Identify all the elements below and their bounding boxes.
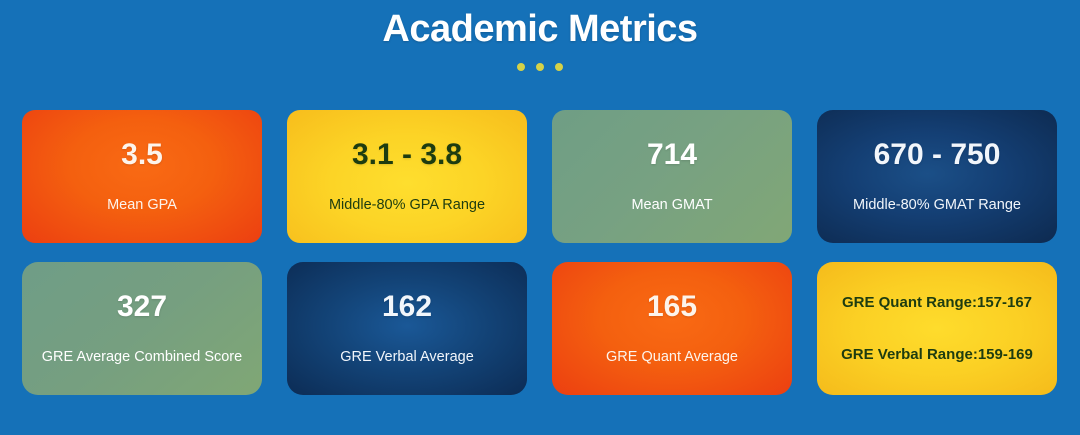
metric-label: Middle-80% GPA Range bbox=[329, 197, 485, 214]
metric-value: 327 bbox=[117, 290, 167, 323]
metric-card-mean-gmat[interactable]: 714 Mean GMAT bbox=[552, 110, 792, 243]
metric-value: 3.1 - 3.8 bbox=[352, 138, 462, 171]
metric-card-mean-gpa[interactable]: 3.5 Mean GPA bbox=[22, 110, 262, 243]
decorative-dots bbox=[0, 63, 1080, 71]
metric-label: GRE Quant Average bbox=[606, 349, 738, 366]
page-header: Academic Metrics bbox=[0, 0, 1080, 71]
dot-icon bbox=[555, 63, 563, 71]
academic-metrics-page: { "header": { "title": "Academic Metrics… bbox=[0, 0, 1080, 435]
metric-card-gre-verbal[interactable]: 162 GRE Verbal Average bbox=[287, 262, 527, 395]
metric-card-gmat-range[interactable]: 670 - 750 Middle-80% GMAT Range bbox=[817, 110, 1057, 243]
metric-card-gre-ranges[interactable]: GRE Quant Range:157-167 GRE Verbal Range… bbox=[817, 262, 1057, 395]
metric-value: 3.5 bbox=[121, 138, 163, 171]
metric-card-gre-combined[interactable]: 327 GRE Average Combined Score bbox=[22, 262, 262, 395]
metric-label: Mean GMAT bbox=[631, 197, 712, 214]
metric-value: 165 bbox=[647, 290, 697, 323]
metric-value: 670 - 750 bbox=[874, 138, 1001, 171]
metric-value: 714 bbox=[647, 138, 697, 171]
dot-icon bbox=[517, 63, 525, 71]
metric-card-gre-quant[interactable]: 165 GRE Quant Average bbox=[552, 262, 792, 395]
metric-card-gpa-range[interactable]: 3.1 - 3.8 Middle-80% GPA Range bbox=[287, 110, 527, 243]
dot-icon bbox=[536, 63, 544, 71]
metric-label: Middle-80% GMAT Range bbox=[853, 197, 1021, 214]
metric-label: Mean GPA bbox=[107, 197, 177, 214]
metric-label: GRE Verbal Average bbox=[340, 349, 474, 366]
gre-verbal-range-text: GRE Verbal Range:159-169 bbox=[841, 346, 1033, 364]
metric-value: 162 bbox=[382, 290, 432, 323]
metrics-grid: 3.5 Mean GPA 3.1 - 3.8 Middle-80% GPA Ra… bbox=[22, 110, 1057, 395]
page-title: Academic Metrics bbox=[0, 8, 1080, 51]
metric-label: GRE Average Combined Score bbox=[42, 349, 242, 366]
gre-quant-range-text: GRE Quant Range:157-167 bbox=[842, 294, 1032, 312]
